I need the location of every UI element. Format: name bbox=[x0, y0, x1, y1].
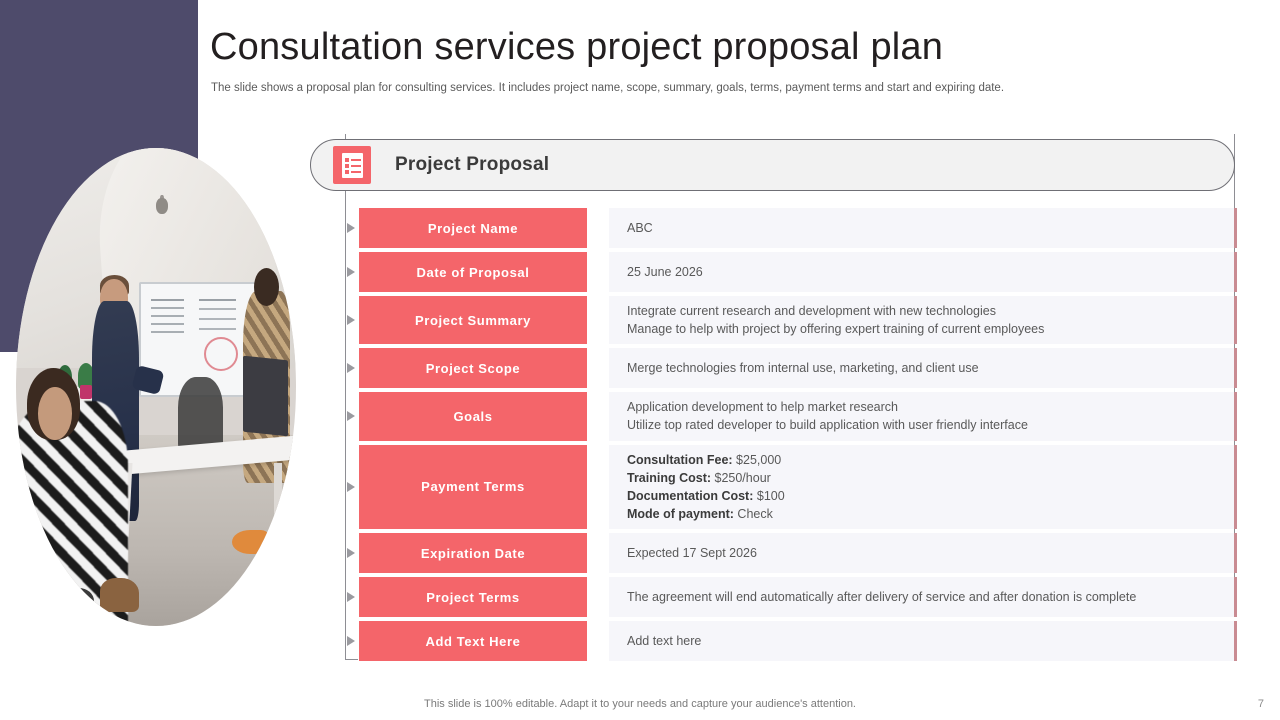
table-row: Add Text HereAdd text here bbox=[345, 621, 1237, 661]
value-lines: Application development to help market r… bbox=[627, 398, 1028, 434]
row-value[interactable]: Application development to help market r… bbox=[609, 392, 1237, 440]
value-lines: 25 June 2026 bbox=[627, 263, 703, 281]
row-value[interactable]: 25 June 2026 bbox=[609, 252, 1237, 292]
value-line: ABC bbox=[627, 219, 653, 237]
value-line: Merge technologies from internal use, ma… bbox=[627, 359, 979, 377]
row-label[interactable]: Goals bbox=[359, 392, 587, 440]
row-spacer bbox=[587, 348, 609, 388]
payment-term-value: $250/hour bbox=[711, 471, 771, 485]
proposal-header-pill: Project Proposal bbox=[310, 139, 1235, 191]
row-arrow-icon bbox=[345, 348, 359, 388]
payment-terms-list: Consultation Fee: $25,000Training Cost: … bbox=[627, 451, 785, 524]
row-spacer bbox=[587, 296, 609, 344]
row-spacer bbox=[587, 252, 609, 292]
row-spacer bbox=[587, 577, 609, 617]
value-line: The agreement will end automatically aft… bbox=[627, 588, 1136, 606]
row-label[interactable]: Project Scope bbox=[359, 348, 587, 388]
payment-term-item: Documentation Cost: $100 bbox=[627, 487, 785, 505]
value-lines: The agreement will end automatically aft… bbox=[627, 588, 1136, 606]
row-label[interactable]: Add Text Here bbox=[359, 621, 587, 661]
value-line: Integrate current research and developme… bbox=[627, 302, 1044, 320]
page-title: Consultation services project proposal p… bbox=[210, 26, 943, 69]
row-arrow-icon bbox=[345, 577, 359, 617]
table-row: GoalsApplication development to help mar… bbox=[345, 392, 1237, 440]
value-line: Add text here bbox=[627, 632, 701, 650]
row-spacer bbox=[587, 208, 609, 248]
table-row: Project NameABC bbox=[345, 208, 1237, 248]
payment-term-value: $25,000 bbox=[733, 453, 782, 467]
table-row: Date of Proposal25 June 2026 bbox=[345, 252, 1237, 292]
row-label[interactable]: Project Terms bbox=[359, 577, 587, 617]
row-arrow-icon bbox=[345, 392, 359, 440]
value-lines: Integrate current research and developme… bbox=[627, 302, 1044, 338]
payment-term-key: Mode of payment: bbox=[627, 507, 734, 521]
value-lines: Merge technologies from internal use, ma… bbox=[627, 359, 979, 377]
row-label[interactable]: Expiration Date bbox=[359, 533, 587, 573]
payment-term-key: Documentation Cost: bbox=[627, 489, 753, 503]
photo-content bbox=[16, 148, 296, 626]
value-lines: Add text here bbox=[627, 632, 701, 650]
row-spacer bbox=[587, 392, 609, 440]
table-row: Project TermsThe agreement will end auto… bbox=[345, 577, 1237, 617]
payment-term-key: Training Cost: bbox=[627, 471, 711, 485]
row-value[interactable]: Merge technologies from internal use, ma… bbox=[609, 348, 1237, 388]
value-line: Expected 17 Sept 2026 bbox=[627, 544, 757, 562]
row-label[interactable]: Project Name bbox=[359, 208, 587, 248]
value-lines: ABC bbox=[627, 219, 653, 237]
value-lines: Expected 17 Sept 2026 bbox=[627, 544, 757, 562]
panel-heading: Project Proposal bbox=[395, 154, 549, 176]
row-value[interactable]: The agreement will end automatically aft… bbox=[609, 577, 1237, 617]
row-value[interactable]: Integrate current research and developme… bbox=[609, 296, 1237, 344]
payment-term-item: Mode of payment: Check bbox=[627, 505, 785, 523]
value-line: 25 June 2026 bbox=[627, 263, 703, 281]
table-row: Project SummaryIntegrate current researc… bbox=[345, 296, 1237, 344]
page-number: 7 bbox=[1258, 698, 1264, 710]
row-spacer bbox=[587, 621, 609, 661]
row-value[interactable]: Consultation Fee: $25,000Training Cost: … bbox=[609, 445, 1237, 530]
row-arrow-icon bbox=[345, 533, 359, 573]
row-label[interactable]: Date of Proposal bbox=[359, 252, 587, 292]
document-lines-icon bbox=[333, 146, 371, 184]
payment-term-key: Consultation Fee: bbox=[627, 453, 733, 467]
row-label[interactable]: Project Summary bbox=[359, 296, 587, 344]
row-label[interactable]: Payment Terms bbox=[359, 445, 587, 530]
row-arrow-icon bbox=[345, 445, 359, 530]
payment-term-value: Check bbox=[734, 507, 773, 521]
row-spacer bbox=[587, 445, 609, 530]
table-row: Project ScopeMerge technologies from int… bbox=[345, 348, 1237, 388]
table-row: Payment TermsConsultation Fee: $25,000Tr… bbox=[345, 445, 1237, 530]
value-line: Manage to help with project by offering … bbox=[627, 320, 1044, 338]
row-arrow-icon bbox=[345, 621, 359, 661]
row-value[interactable]: ABC bbox=[609, 208, 1237, 248]
row-arrow-icon bbox=[345, 252, 359, 292]
value-line: Utilize top rated developer to build app… bbox=[627, 416, 1028, 434]
row-value[interactable]: Add text here bbox=[609, 621, 1237, 661]
value-line: Application development to help market r… bbox=[627, 398, 1028, 416]
meeting-photo bbox=[16, 148, 296, 626]
payment-term-item: Consultation Fee: $25,000 bbox=[627, 451, 785, 469]
row-value[interactable]: Expected 17 Sept 2026 bbox=[609, 533, 1237, 573]
row-arrow-icon bbox=[345, 296, 359, 344]
proposal-table: Project NameABCDate of Proposal25 June 2… bbox=[345, 208, 1237, 665]
row-spacer bbox=[587, 533, 609, 573]
footer-note: This slide is 100% editable. Adapt it to… bbox=[0, 698, 1280, 710]
payment-term-item: Training Cost: $250/hour bbox=[627, 469, 785, 487]
page-subtitle: The slide shows a proposal plan for cons… bbox=[211, 82, 1004, 94]
row-arrow-icon bbox=[345, 208, 359, 248]
payment-term-value: $100 bbox=[753, 489, 784, 503]
table-row: Expiration DateExpected 17 Sept 2026 bbox=[345, 533, 1237, 573]
